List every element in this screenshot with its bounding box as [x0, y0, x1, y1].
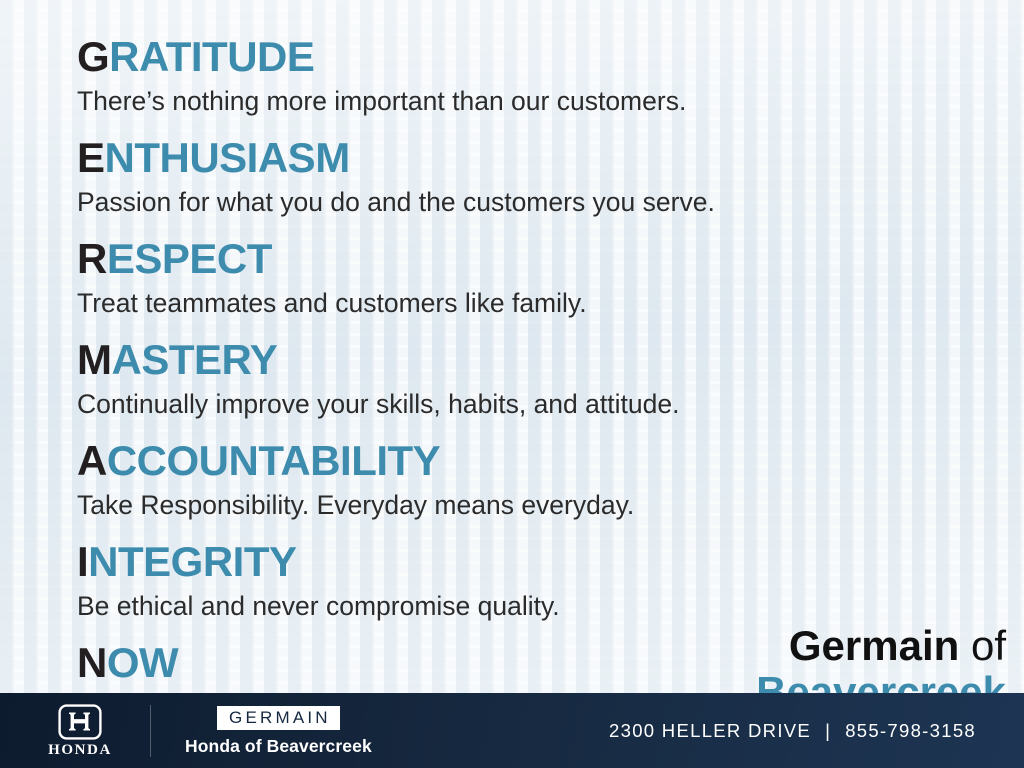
honda-h-emblem-icon — [58, 704, 102, 740]
value-word-remainder: ESPECT — [107, 235, 272, 282]
value-word-remainder: OW — [107, 639, 178, 686]
value-item-accountability: ACCOUNTABILITY Take Responsibility. Ever… — [77, 437, 1007, 522]
value-description: Continually improve your skills, habits,… — [77, 387, 1007, 421]
value-description: There’s nothing more important than our … — [77, 84, 1007, 118]
value-heading: RESPECT — [77, 235, 1007, 283]
value-word-remainder: NTHUSIASM — [105, 134, 350, 181]
dealer-wordmark-line1: Germain of — [536, 622, 1006, 670]
germain-dealer-subtitle: Honda of Beavercreek — [185, 737, 372, 756]
value-heading: GRATITUDE — [77, 33, 1007, 81]
value-initial-letter: M — [77, 336, 112, 383]
value-heading: MASTERY — [77, 336, 1007, 384]
values-list: GRATITUDE There’s nothing more important… — [77, 33, 1007, 703]
brand-values-poster: GRATITUDE There’s nothing more important… — [0, 0, 1024, 768]
value-initial-letter: A — [77, 437, 107, 484]
value-description: Treat teammates and customers like famil… — [77, 286, 1007, 320]
footer-contact-info: 2300 HELLER DRIVE | 855-798-3158 — [609, 720, 1024, 742]
value-item-mastery: MASTERY Continually improve your skills,… — [77, 336, 1007, 421]
value-word-remainder: RATITUDE — [109, 33, 314, 80]
value-word-remainder: NTEGRITY — [88, 538, 296, 585]
value-word-remainder: ASTERY — [112, 336, 278, 383]
value-description: Be ethical and never compromise quality. — [77, 589, 1007, 623]
footer-branding-group: HONDA GERMAIN Honda of Beavercreek — [0, 704, 372, 758]
value-description: Passion for what you do and the customer… — [77, 185, 1007, 219]
value-initial-letter: N — [77, 639, 107, 686]
value-description: Take Responsibility. Everyday means ever… — [77, 488, 1007, 522]
value-item-enthusiasm: ENTHUSIASM Passion for what you do and t… — [77, 134, 1007, 219]
value-initial-letter: E — [77, 134, 105, 181]
honda-logo: HONDA — [36, 704, 124, 758]
footer-bar: HONDA GERMAIN Honda of Beavercreek 2300 … — [0, 693, 1024, 768]
dealer-phone[interactable]: 855-798-3158 — [845, 720, 976, 742]
value-item-gratitude: GRATITUDE There’s nothing more important… — [77, 33, 1007, 118]
germain-dealer-logo: GERMAIN Honda of Beavercreek — [185, 706, 372, 756]
value-heading: ACCOUNTABILITY — [77, 437, 1007, 485]
footer-divider — [150, 705, 151, 757]
value-initial-letter: G — [77, 33, 109, 80]
honda-wordmark: HONDA — [48, 743, 112, 758]
dealer-connector: of — [971, 622, 1006, 669]
dealer-brand-name: Germain — [789, 622, 959, 669]
germain-badge: GERMAIN — [217, 706, 340, 730]
value-item-respect: RESPECT Treat teammates and customers li… — [77, 235, 1007, 320]
dealer-address: 2300 HELLER DRIVE — [609, 720, 811, 742]
value-word-remainder: CCOUNTABILITY — [107, 437, 440, 484]
value-heading: ENTHUSIASM — [77, 134, 1007, 182]
value-initial-letter: R — [77, 235, 107, 282]
value-item-integrity: INTEGRITY Be ethical and never compromis… — [77, 538, 1007, 623]
value-heading: INTEGRITY — [77, 538, 1007, 586]
contact-separator: | — [825, 720, 831, 742]
value-initial-letter: I — [77, 538, 88, 585]
